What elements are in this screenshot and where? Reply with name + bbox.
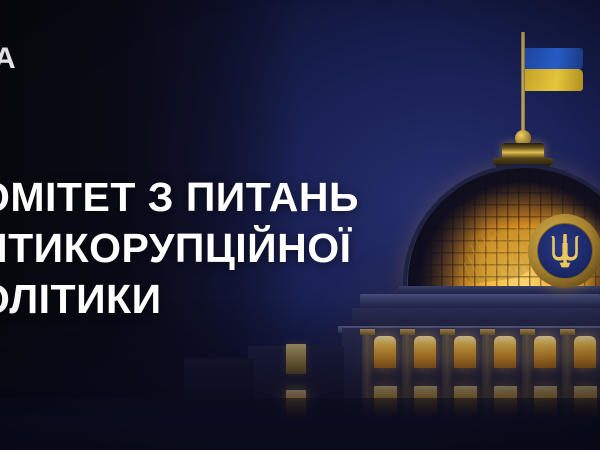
foreground-ground xyxy=(0,398,600,450)
headline-line-2: НТИКОРУПЦІЙНОЇ xyxy=(0,223,600,274)
headline-line-3: ОЛІТИКИ xyxy=(0,274,600,325)
headline-block: ОМІТЕТ З ПИТАНЬ НТИКОРУПЦІЙНОЇ ОЛІТИКИ xyxy=(0,172,600,325)
headline-line-1: ОМІТЕТ З ПИТАНЬ xyxy=(0,172,600,223)
flag-blue-stripe xyxy=(525,48,583,70)
ukrainian-flag-icon xyxy=(525,48,583,93)
banner-image: А ОМІТЕТ З ПИТАНЬ НТИКОРУПЦІЙНОЇ ОЛІТИКИ xyxy=(0,0,600,450)
flag-yellow-stripe xyxy=(525,69,583,91)
channel-logo: А xyxy=(0,44,16,74)
